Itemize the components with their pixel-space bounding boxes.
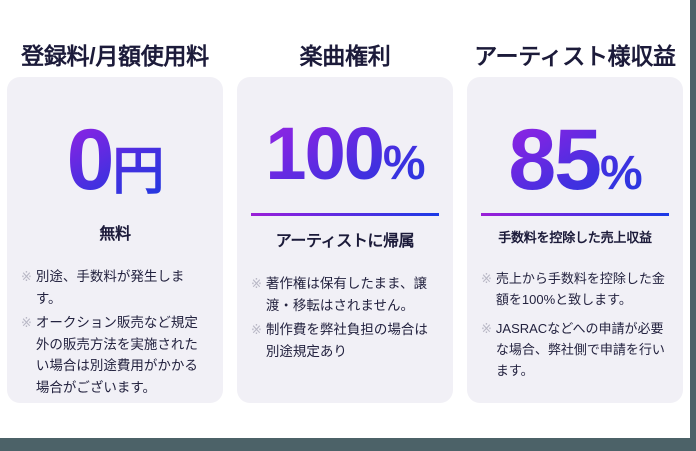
notes-music-rights: ※ 著作権は保有したまま、譲渡・移転はされません。 ※ 制作費を弊社負担の場合は… [251,273,439,364]
note-text: 著作権は保有したまま、譲渡・移転はされません。 [266,273,439,317]
figure-unit: 円 [112,146,163,198]
figure-value: 100 [265,117,382,191]
pricing-card-registration-fee: 0円 無料 ※ 別途、手数料が発生します。 ※ オークション販売など規定外の販売… [7,77,223,403]
figure-unit: % [383,140,425,188]
note-item: ※ JASRACなどへの申請が必要な場合、弊社側で申請を行います。 [481,318,669,381]
note-mark-icon: ※ [21,266,32,287]
note-item: ※ オークション販売など規定外の販売方法を実施されたい場合は別途費用がかかる場合… [21,312,209,399]
pricing-card-artist-revenue: 85% 手数料を控除した売上収益 ※ 売上から手数料を控除した金額を100%と致… [467,77,683,403]
note-item: ※ 別途、手数料が発生します。 [21,266,209,310]
gradient-divider [251,213,439,216]
note-text: 制作費を弊社負担の場合は別途規定あり [266,319,439,363]
note-item: ※ 売上から手数料を控除した金額を100%と致します。 [481,268,669,310]
note-mark-icon: ※ [251,319,262,340]
figure-registration-fee: 0円 [67,95,164,203]
pricing-card-music-rights: 100% アーティストに帰属 ※ 著作権は保有したまま、譲渡・移転はされません。… [237,77,453,403]
pricing-column-music-rights: 楽曲権利 100% アーティストに帰属 ※ 著作権は保有したまま、譲渡・移転はさ… [230,0,460,403]
note-item: ※ 著作権は保有したまま、譲渡・移転はされません。 [251,273,439,317]
note-mark-icon: ※ [481,268,492,289]
column-heading-artist-revenue: アーティスト様収益 [467,0,683,77]
notes-artist-revenue: ※ 売上から手数料を控除した金額を100%と致します。 ※ JASRACなどへの… [481,268,669,383]
gradient-divider [481,213,669,216]
note-text: オークション販売など規定外の販売方法を実施されたい場合は別途費用がかかる場合がご… [36,312,209,399]
notes-registration-fee: ※ 別途、手数料が発生します。 ※ オークション販売など規定外の販売方法を実施さ… [21,266,209,401]
figure-artist-revenue: 85% [508,95,641,207]
pricing-columns: 登録料/月額使用料 0円 無料 ※ 別途、手数料が発生します。 ※ オークション… [0,0,690,403]
column-heading-music-rights: 楽曲権利 [237,0,453,77]
note-item: ※ 制作費を弊社負担の場合は別途規定あり [251,319,439,363]
figure-value: 85 [508,117,600,203]
pricing-panel: 登録料/月額使用料 0円 無料 ※ 別途、手数料が発生します。 ※ オークション… [0,0,690,451]
figure-unit: % [600,150,642,198]
column-heading-registration-fee: 登録料/月額使用料 [7,0,223,77]
pricing-column-registration-fee: 登録料/月額使用料 0円 無料 ※ 別途、手数料が発生します。 ※ オークション… [0,0,230,403]
figure-value: 0 [67,117,113,203]
note-mark-icon: ※ [251,273,262,294]
note-text: 別途、手数料が発生します。 [36,266,209,310]
sub-label-artist-revenue: 手数料を控除した売上収益 [498,227,652,246]
sub-label-registration-fee: 無料 [99,220,130,244]
sub-label-music-rights: アーティストに帰属 [276,227,414,251]
figure-music-rights: 100% [265,95,424,207]
note-mark-icon: ※ [481,318,492,339]
note-text: JASRACなどへの申請が必要な場合、弊社側で申請を行います。 [496,318,669,381]
note-mark-icon: ※ [21,312,32,333]
bottom-status-bar [0,438,690,451]
note-text: 売上から手数料を控除した金額を100%と致します。 [496,268,669,310]
pricing-column-artist-revenue: アーティスト様収益 85% 手数料を控除した売上収益 ※ 売上から手数料を控除し… [460,0,690,403]
vertical-scrollbar[interactable] [690,0,696,451]
vertical-scrollbar-thumb[interactable] [690,0,696,451]
